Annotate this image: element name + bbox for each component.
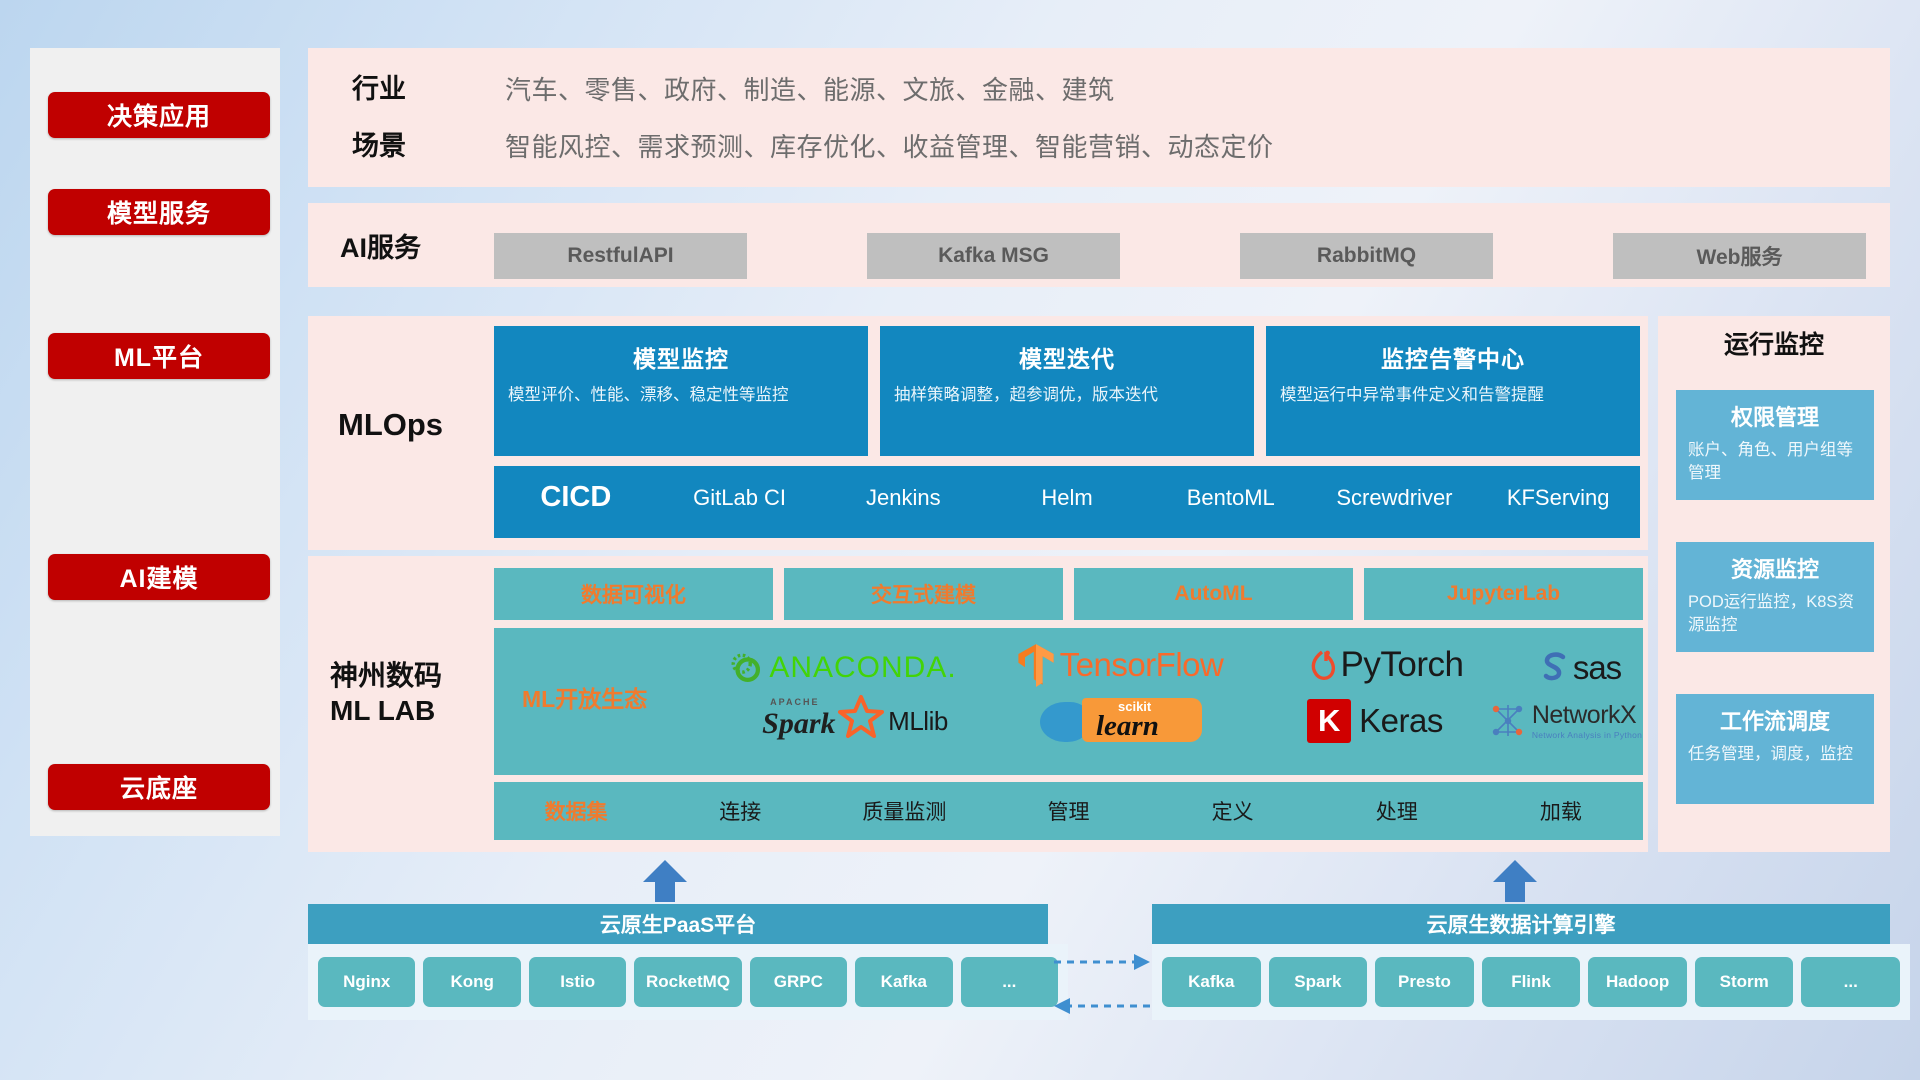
paas-chip-nginx[interactable]: Nginx <box>318 957 415 1007</box>
mlops-card-desc: 模型运行中异常事件定义和告警提醒 <box>1266 374 1640 407</box>
sas-mark <box>1539 650 1571 686</box>
stage-chip-cloud-base[interactable]: 云底座 <box>48 764 270 810</box>
engine-chip-more[interactable]: ... <box>1801 957 1900 1007</box>
ai-service-item-restfulapi[interactable]: RestfulAPI <box>494 233 747 279</box>
decision-row-label-industry: 行业 <box>352 66 472 106</box>
decision-scenario-value: 智能风控、需求预测、库存优化、收益管理、智能营销、动态定价 <box>505 127 1274 164</box>
spark-mark: APACHE Spark <box>762 696 882 746</box>
architecture-diagram: 决策应用 模型服务 ML平台 AI建模 云底座 行业 汽车、零售、政府、制造、能… <box>0 0 1920 1080</box>
cicd-bar: CICD GitLab CI Jenkins Helm BentoML Scre… <box>494 466 1640 538</box>
arrow-up-paas-icon <box>630 860 700 902</box>
cicd-item-kfserving[interactable]: KFServing <box>1476 466 1640 509</box>
cicd-item-screwdriver[interactable]: Screwdriver <box>1313 466 1477 509</box>
keras-logo: K Keras <box>1270 695 1480 747</box>
paas-chip-strip: Nginx Kong Istio RocketMQ GRPC Kafka ... <box>308 944 1068 1020</box>
cicd-item-gitlab-ci[interactable]: GitLab CI <box>658 466 822 509</box>
cloud-exchange-arrows-icon <box>1050 950 1154 1020</box>
networkx-mark <box>1488 701 1528 741</box>
engine-chip-spark[interactable]: Spark <box>1269 957 1368 1007</box>
networkx-logo: NetworkX Network Analysis in Python <box>1475 695 1655 747</box>
paas-chip-kong[interactable]: Kong <box>423 957 520 1007</box>
runtime-card-resource[interactable]: 资源监控 POD运行监控，K8S资源监控 <box>1676 542 1874 652</box>
cicd-item-jenkins[interactable]: Jenkins <box>821 466 985 509</box>
mlops-card-model-iteration[interactable]: 模型迭代 抽样策略调整，超参调优，版本迭代 <box>880 326 1254 456</box>
paas-chip-istio[interactable]: Istio <box>529 957 626 1007</box>
scikit-learn-logo: scikit learn <box>1030 695 1240 747</box>
paas-chip-grpc[interactable]: GRPC <box>750 957 847 1007</box>
ai-service-item-rabbitmq[interactable]: RabbitMQ <box>1240 233 1493 279</box>
engine-chip-kafka[interactable]: Kafka <box>1162 957 1261 1007</box>
runtime-card-desc: POD运行监控，K8S资源监控 <box>1676 584 1874 637</box>
dataset-item-manage[interactable]: 管理 <box>986 796 1150 826</box>
engine-chip-flink[interactable]: Flink <box>1482 957 1581 1007</box>
cicd-item-helm[interactable]: Helm <box>985 466 1149 509</box>
ml-lab-tab-jupyterlab[interactable]: JupyterLab <box>1364 568 1643 620</box>
ml-lab-label-line1: 神州数码 <box>330 658 505 693</box>
dataset-item-load[interactable]: 加载 <box>1479 796 1643 826</box>
runtime-monitor-title: 运行监控 <box>1658 325 1890 361</box>
runtime-card-desc: 账户、角色、用户组等管理 <box>1676 432 1874 485</box>
mlops-card-desc: 抽样策略调整，超参调优，版本迭代 <box>880 374 1254 407</box>
stage-chip-ai-modeling[interactable]: AI建模 <box>48 554 270 600</box>
cicd-label: CICD <box>494 466 658 512</box>
runtime-card-title: 工作流调度 <box>1676 694 1874 736</box>
sas-logo: sas <box>1505 645 1655 691</box>
tensorflow-wordmark: TensorFlow <box>1060 646 1224 684</box>
spark-mllib-logo: APACHE Spark MLlib <box>730 695 980 747</box>
cicd-item-bentoml[interactable]: BentoML <box>1149 466 1313 509</box>
tensorflow-logo: TensorFlow <box>975 640 1265 690</box>
mlops-card-model-monitoring[interactable]: 模型监控 模型评价、性能、漂移、稳定性等监控 <box>494 326 868 456</box>
dataset-label: 数据集 <box>494 796 658 826</box>
pytorch-logo: PyTorch <box>1270 640 1500 690</box>
engine-chip-strip: Kafka Spark Presto Flink Hadoop Storm ..… <box>1152 944 1910 1020</box>
runtime-card-desc: 任务管理，调度，监控 <box>1676 736 1874 766</box>
keras-wordmark: Keras <box>1359 702 1443 740</box>
ml-lab-label-line2: ML LAB <box>330 693 505 728</box>
runtime-card-workflow[interactable]: 工作流调度 任务管理，调度，监控 <box>1676 694 1874 804</box>
decision-row-label-scenario: 场景 <box>352 123 472 163</box>
anaconda-mark <box>729 651 763 685</box>
networkx-tagline: Network Analysis in Python <box>1532 730 1642 740</box>
runtime-card-title: 权限管理 <box>1676 390 1874 432</box>
spark-wordmark: Spark <box>762 707 835 741</box>
tensorflow-mark <box>1017 643 1055 687</box>
ai-service-item-kafka-msg[interactable]: Kafka MSG <box>867 233 1120 279</box>
dataset-item-connect[interactable]: 连接 <box>658 796 822 826</box>
ml-lab-tab-automl[interactable]: AutoML <box>1074 568 1353 620</box>
ai-service-label: AI服务 <box>340 222 500 268</box>
mlops-card-alert-center[interactable]: 监控告警中心 模型运行中异常事件定义和告警提醒 <box>1266 326 1640 456</box>
mlops-card-title: 模型监控 <box>494 326 868 374</box>
runtime-card-permission[interactable]: 权限管理 账户、角色、用户组等管理 <box>1676 390 1874 500</box>
mlops-card-desc: 模型评价、性能、漂移、稳定性等监控 <box>494 374 868 407</box>
arrow-up-engine-icon <box>1480 860 1550 902</box>
ml-lab-label: 神州数码 ML LAB <box>330 658 505 728</box>
stage-chip-model-service[interactable]: 模型服务 <box>48 189 270 235</box>
stage-chip-ml-platform[interactable]: ML平台 <box>48 333 270 379</box>
engine-chip-presto[interactable]: Presto <box>1375 957 1474 1007</box>
dataset-row: 数据集 连接 质量监测 管理 定义 处理 加载 <box>494 782 1643 840</box>
pytorch-mark <box>1307 646 1337 684</box>
anaconda-logo: ANACONDA. <box>718 645 968 691</box>
paas-chip-kafka[interactable]: Kafka <box>855 957 952 1007</box>
mllib-wordmark: MLlib <box>888 706 948 737</box>
decision-application-band <box>308 48 1890 187</box>
keras-mark: K <box>1307 699 1351 743</box>
mlops-card-title: 监控告警中心 <box>1266 326 1640 374</box>
engine-chip-hadoop[interactable]: Hadoop <box>1588 957 1687 1007</box>
dataset-item-process[interactable]: 处理 <box>1315 796 1479 826</box>
paas-platform-title: 云原生PaaS平台 <box>308 904 1048 944</box>
mlops-label: MLOps <box>338 400 508 450</box>
ml-lab-tab-data-visualization[interactable]: 数据可视化 <box>494 568 773 620</box>
runtime-card-title: 资源监控 <box>1676 542 1874 584</box>
spark-apache-text: APACHE <box>770 697 819 707</box>
pytorch-wordmark: PyTorch <box>1341 645 1464 685</box>
sas-wordmark: sas <box>1573 649 1621 687</box>
dataset-item-define[interactable]: 定义 <box>1151 796 1315 826</box>
ml-ecosystem-label: ML开放生态 <box>522 680 712 714</box>
stage-rail <box>30 48 280 836</box>
stage-chip-decision[interactable]: 决策应用 <box>48 92 270 138</box>
spark-star-icon <box>838 694 884 738</box>
networkx-wordmark: NetworkX <box>1532 703 1642 728</box>
keras-k-glyph: K <box>1318 703 1340 739</box>
decision-industry-value: 汽车、零售、政府、制造、能源、文旅、金融、建筑 <box>505 70 1115 107</box>
dataset-item-quality-monitor[interactable]: 质量监测 <box>822 796 986 826</box>
ml-lab-tab-interactive-modeling[interactable]: 交互式建模 <box>784 568 1063 620</box>
paas-chip-more[interactable]: ... <box>961 957 1058 1007</box>
learn-text: learn <box>1096 710 1159 743</box>
paas-chip-rocketmq[interactable]: RocketMQ <box>634 957 741 1007</box>
anaconda-wordmark: ANACONDA. <box>769 651 956 685</box>
ai-service-item-web-service[interactable]: Web服务 <box>1613 233 1866 279</box>
engine-chip-storm[interactable]: Storm <box>1695 957 1794 1007</box>
data-engine-title: 云原生数据计算引擎 <box>1152 904 1890 944</box>
mlops-card-title: 模型迭代 <box>880 326 1254 374</box>
